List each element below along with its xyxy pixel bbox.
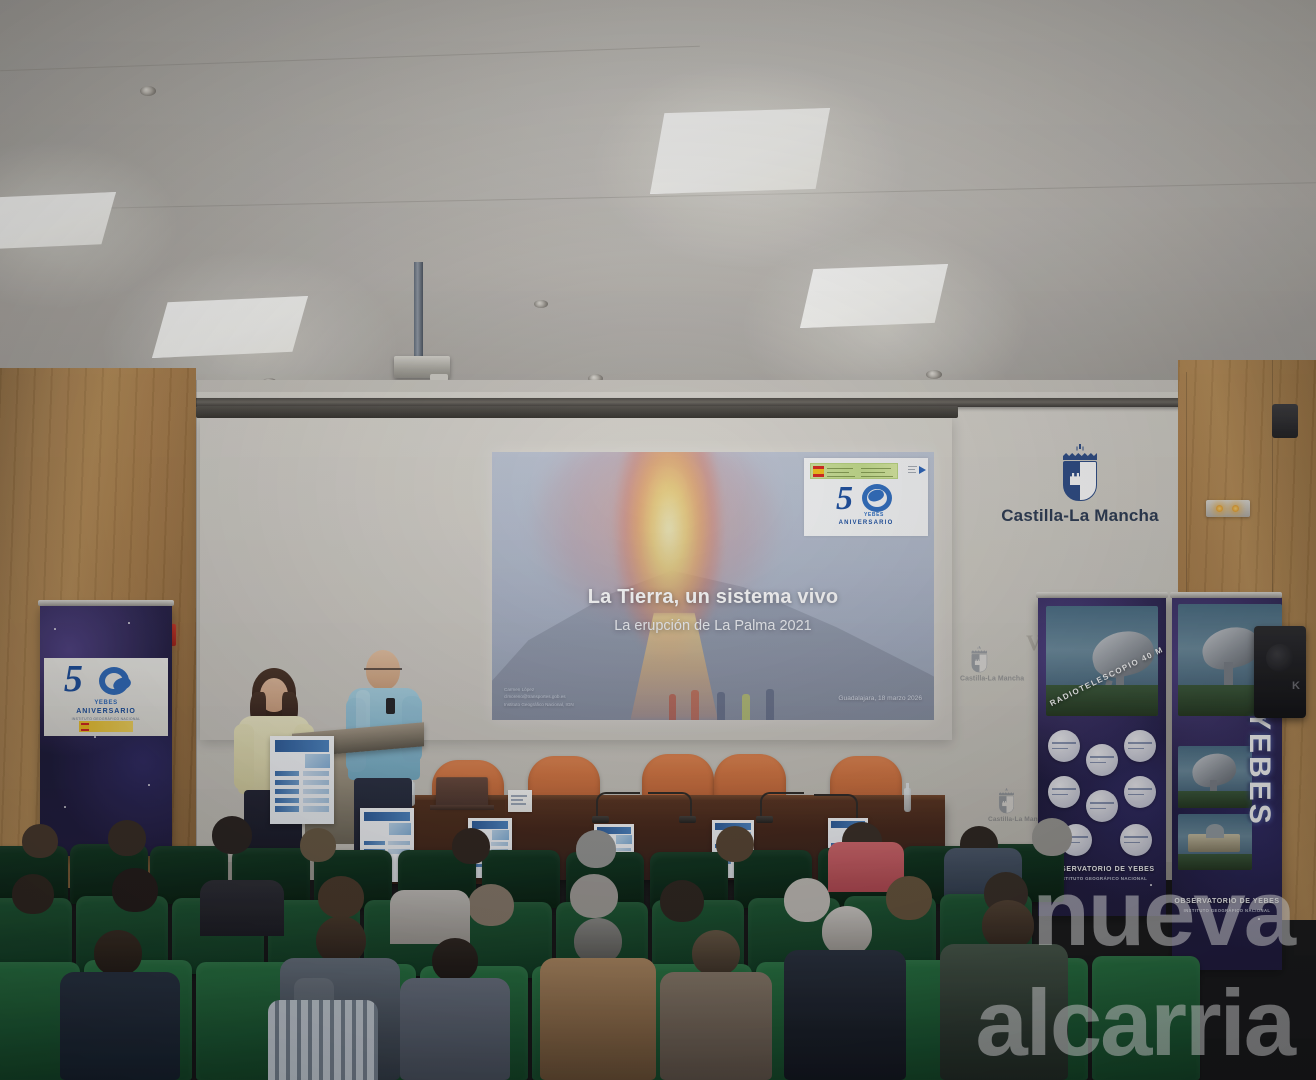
slide-date: Guadalajara, 18 marzo 2026 [838,695,922,702]
audience-plaid-shirt [268,1000,378,1080]
eyeglasses [364,668,402,674]
audience-person-front [400,938,510,1080]
info-circle [1086,744,1118,776]
shield-icon [999,796,1014,814]
banner-vertical-title: YEBES [1242,710,1276,827]
audience-head [576,830,616,868]
crown-icon [999,790,1014,795]
ceiling-spotlight [926,370,942,379]
audience-head [22,824,58,858]
government-logo-bar [810,463,898,479]
audience-head [112,868,158,912]
slide-logo-box: 5 YEBES ANIVERSARIO [804,458,928,536]
info-circle [1086,790,1118,822]
ceiling-spotlight [140,86,156,96]
shield-icon [1063,461,1097,501]
crown-icon [1063,448,1097,460]
logo-text: Castilla-La Mancha [1000,506,1160,526]
crown-icon [972,648,988,654]
castle-icon [1002,801,1007,806]
audience-head [94,930,142,976]
logo-years-label: YEBES [864,512,884,518]
laptop[interactable] [436,777,488,807]
projection-screen-roller [196,406,958,418]
crest [988,790,1025,813]
figure-silhouette [766,689,774,720]
logo-aniversario-label: ANIVERSARIO [804,520,928,526]
info-circle [1124,730,1156,762]
laptop-base [430,805,494,810]
table-microphone [814,794,858,820]
audience-body [60,972,180,1080]
anniversary-50-logo: 5 YEBES ANIVERSARIO [804,480,928,534]
emergency-led [1216,505,1223,512]
logo-digit-five: 5 [836,482,853,516]
government-logo-bar [79,721,133,732]
table-microphone [760,792,804,818]
pa-speaker [1254,626,1306,718]
wall-speaker [1272,404,1298,438]
slide-author-block: Carmen López clmoreno@transportes.gob.es… [504,686,574,708]
triangle-icon [919,466,926,474]
audience-body [660,972,772,1080]
wall-panel-edge [196,380,197,880]
water-bottle [904,788,911,812]
table-name-card [508,790,532,812]
audience-head [822,906,872,956]
audience-person [200,880,284,936]
microphone-handheld [386,698,395,714]
spain-flag-icon [81,723,89,731]
audience-person-front [784,906,906,1080]
audience-head [452,828,490,864]
audience-person-front [60,930,180,1080]
logo-text: Castilla-La Mancha [960,675,999,683]
info-circle [1048,776,1080,808]
slide-title: La Tierra, un sistema vivo [492,586,934,609]
ceiling-light-panel [650,108,830,194]
ceiling-light-panel [152,296,308,358]
audience-head [570,874,618,918]
info-circle [1124,776,1156,808]
castilla-la-mancha-logo-faint: Castilla-La Mancha [988,790,1025,823]
audience-seat [1092,956,1200,1080]
ceiling-light-panel [800,264,948,328]
banner-footer: OBSERVATORIO DE YEBES [1172,898,1282,905]
castilla-la-mancha-logo-faint: Castilla-La Mancha [960,648,999,683]
audience-head [660,880,704,922]
slide-subtitle: La erupción de La Palma 2021 [492,618,934,634]
castle-icon [975,660,980,666]
audience-head [318,876,364,918]
audience-head [468,884,514,926]
audience-head [12,874,54,914]
audience-body [940,944,1068,1080]
ceiling-spotlight [534,300,548,308]
audience-person-front [660,930,772,1080]
slide-author-name: Carmen López [504,686,574,693]
audience-body [540,958,656,1080]
figure-silhouette [742,694,750,720]
banner-logo-panel: 5 YEBES ANIVERSARIO INSTITUTO GEOGRÁFICO… [44,658,168,736]
banner-footer-sub: INSTITUTO GEOGRÁFICO NACIONAL [1172,908,1282,913]
projector-mount-pole [414,262,423,360]
emergency-led [1232,505,1239,512]
radiotelescope-photo-2 [1178,746,1252,808]
ceiling-light-panel [0,192,116,250]
crest [1000,448,1160,501]
presentation-slide: La Tierra, un sistema vivo La erupción d… [492,452,934,720]
audience-body [400,978,510,1080]
info-circle [1048,730,1080,762]
audience-person-front [940,900,1068,1080]
anniversary-50-logo: 5 YEBES ANIVERSARIO INSTITUTO GEOGRÁFICO… [44,658,168,736]
emergency-light [1206,500,1250,517]
audience-body [784,950,906,1080]
audience-head [716,826,754,862]
audience-head [300,828,336,862]
audience-person-front [540,918,656,1080]
table-microphone [596,792,640,818]
figure-silhouette [717,692,725,720]
lectern-program-poster [270,736,334,824]
audience-head [212,816,252,854]
info-circle [1120,824,1152,856]
crest [960,648,999,672]
slide-author-org: Instituto Geográfico Nacional, IGN [504,701,574,708]
audience-head [982,900,1034,950]
table-microphone [648,792,692,818]
observatory-building-photo [1178,814,1252,870]
arm-left [234,724,254,790]
shield-icon [972,654,988,672]
audience-person [390,890,470,944]
logo-aniversario-label: ANIVERSARIO [44,708,168,715]
castilla-la-mancha-logo-right: Castilla-La Mancha [1000,448,1160,526]
figure-silhouette [691,690,699,720]
auditorium-photo: Castilla-La Mancha Castilla-La Mancha Ca… [0,0,1316,1080]
audience-head [316,916,366,964]
audience-head [692,930,740,976]
audience-head [432,938,478,982]
logo-digit-five: 5 [64,660,83,698]
figure-silhouette [669,694,676,720]
spain-flag-icon [813,466,824,477]
logo-text: Castilla-La Mancha [988,816,1025,823]
banner-left-50-aniversario: 5 YEBES ANIVERSARIO INSTITUTO GEOGRÁFICO… [40,606,172,856]
logo-years-label: YEBES [44,700,168,706]
castle-icon [1070,473,1081,485]
audience-head [108,820,146,856]
secondary-logo [908,465,924,476]
slide-author-email: clmoreno@transportes.gob.es [504,693,574,700]
audience-head [1032,818,1072,856]
